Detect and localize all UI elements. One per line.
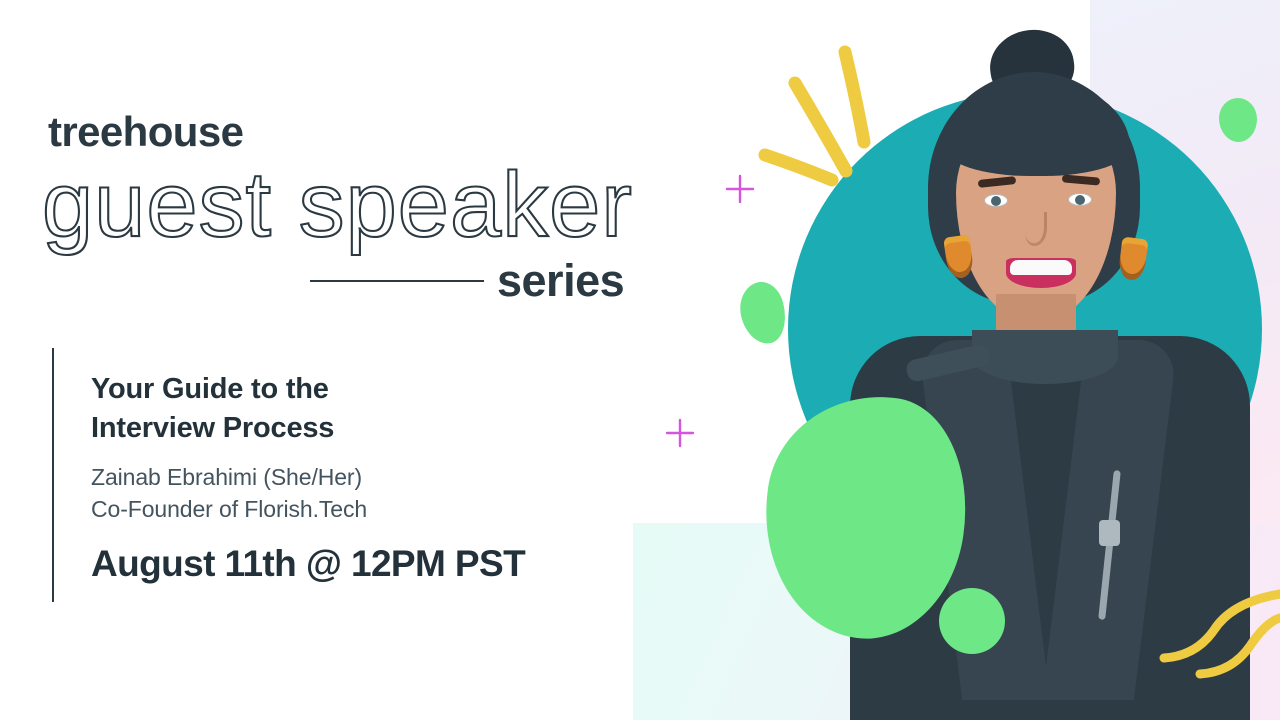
headline-text: guest speaker bbox=[42, 160, 633, 256]
mouth bbox=[1006, 258, 1076, 288]
headline-guest-speaker: guest speaker bbox=[40, 160, 660, 260]
plus-mark-icon-top bbox=[723, 172, 757, 206]
pupil-right bbox=[1075, 195, 1085, 205]
teeth bbox=[1010, 260, 1072, 275]
zipper-pull bbox=[1099, 520, 1120, 546]
event-datetime: August 11th @ 12PM PST bbox=[91, 543, 631, 585]
speaker-name: Zainab Ebrahimi (She/Her) bbox=[91, 462, 631, 494]
plus-mark-icon-middle bbox=[663, 416, 697, 450]
event-details: Your Guide to the Interview Process Zain… bbox=[91, 370, 631, 585]
treehouse-wordmark: treehouse bbox=[48, 108, 243, 156]
series-divider-rule bbox=[310, 280, 484, 282]
green-blob-small bbox=[734, 278, 792, 349]
yellow-wave-lines-icon bbox=[1150, 580, 1280, 690]
detail-vertical-rule bbox=[52, 348, 54, 602]
jacket-collar bbox=[972, 330, 1118, 384]
green-blob-bottom bbox=[939, 588, 1005, 654]
speaker-role: Co-Founder of Florish.Tech bbox=[91, 494, 631, 526]
promo-slide: treehouse guest speaker series Your Guid… bbox=[0, 0, 1280, 720]
earring-right bbox=[1118, 237, 1149, 282]
pupil-left bbox=[991, 196, 1001, 206]
yellow-burst-icon bbox=[740, 30, 920, 210]
talk-title: Your Guide to the Interview Process bbox=[91, 370, 631, 447]
series-label: series bbox=[497, 255, 624, 307]
